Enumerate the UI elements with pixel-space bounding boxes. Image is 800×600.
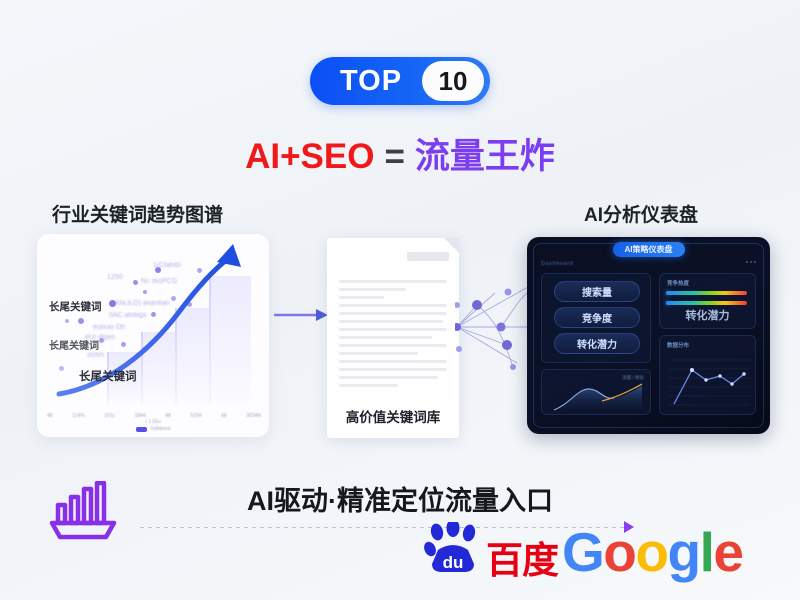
keyword-library-document: 高价值关键词库 xyxy=(327,238,459,438)
keyword-trend-chart-card: 1/Cfatxbl Nc sksPCG Kfa,b,O) anantian 0A… xyxy=(37,234,269,437)
doc-header-chip xyxy=(407,252,449,261)
doc-line xyxy=(339,288,406,291)
page-fold-corner xyxy=(444,238,459,253)
pill-competition[interactable]: 竞争度 xyxy=(554,307,640,328)
dashboard-menu-icon[interactable] xyxy=(746,261,756,263)
doc-line xyxy=(339,376,438,379)
baidu-du-text: du xyxy=(443,553,464,572)
google-letter-o2: o xyxy=(635,521,667,583)
doc-text-lines xyxy=(339,280,447,392)
doc-line xyxy=(339,312,447,315)
gauge-marker xyxy=(666,301,670,305)
keyword-label: 长尾关键词 xyxy=(49,337,99,352)
competition-heat-panel: 竞争热度 转化潜力 xyxy=(659,273,756,329)
doc-line xyxy=(339,352,418,355)
flow-arrow-icon xyxy=(274,308,328,322)
bar-chart-pedestal-icon xyxy=(44,481,122,545)
top-badge-number: 10 xyxy=(422,61,484,101)
axis-subtitle: r 1.5bu xyxy=(37,419,269,425)
dashboard-line-chart xyxy=(660,336,757,416)
pill-conversion-potential[interactable]: 转化潜力 xyxy=(554,333,640,354)
google-letter-e: e xyxy=(713,521,742,583)
data-distribution-panel: 数据分布 xyxy=(659,335,756,415)
traffic-area-panel: 流量 / 转化 xyxy=(541,369,651,415)
legend-swatch xyxy=(136,427,147,432)
google-letter-o1: o xyxy=(603,521,635,583)
doc-line xyxy=(339,344,447,347)
gauge-overlay-label: 转化潜力 xyxy=(660,307,755,323)
pill-search-volume[interactable]: 搜索量 xyxy=(554,281,640,302)
title-equals: = xyxy=(384,137,404,176)
dashboard-subtitle: Dashboard xyxy=(541,261,573,267)
dashboard-title-badge: AI策略仪表盘 xyxy=(613,242,685,257)
top-rank-badge: TOP 10 xyxy=(310,57,490,105)
doc-line xyxy=(339,368,447,371)
baidu-paw-icon: du xyxy=(424,522,482,574)
page-title: AI+SEO=流量王炸 xyxy=(0,128,800,179)
baidu-hanzi-text: 百度 xyxy=(486,530,558,584)
gradient-bar xyxy=(668,301,747,305)
caption-keyword-trend: 行业关键词趋势图谱 xyxy=(52,200,223,227)
title-traffic: 流量王炸 xyxy=(415,137,555,176)
dashboard-area-chart xyxy=(542,370,652,416)
doc-line xyxy=(339,328,447,331)
panel-title: 竞争热度 xyxy=(667,279,689,287)
trend-arrow-icon xyxy=(37,234,269,437)
divider-line xyxy=(140,527,630,528)
keyword-label: 长尾关键词 xyxy=(49,299,102,314)
doc-line xyxy=(339,304,447,307)
ai-dashboard-panel: AI策略仪表盘 Dashboard 搜索量 竞争度 转化潜力 竞争热度 转化潜力… xyxy=(527,237,770,434)
baidu-logo: du 百度 xyxy=(424,522,554,578)
doc-line xyxy=(339,360,447,363)
top-badge-label: TOP xyxy=(310,65,422,98)
doc-line xyxy=(339,320,443,323)
document-caption: 高价值关键词库 xyxy=(327,406,459,426)
google-letter-g2: g xyxy=(668,521,700,583)
title-ai-seo: AI+SEO xyxy=(245,137,374,176)
chart-plot-area: 1/Cfatxbl Nc sksPCG Kfa,b,O) anantian 0A… xyxy=(37,234,269,437)
doc-line xyxy=(339,296,384,299)
doc-line xyxy=(339,280,447,283)
google-letter-l: l xyxy=(700,521,714,583)
metric-pills-panel: 搜索量 竞争度 转化潜力 xyxy=(541,273,651,363)
caption-ai-dashboard: AI分析仪表盘 xyxy=(584,200,698,227)
gradient-bar xyxy=(668,291,747,295)
google-logo: Google xyxy=(562,520,742,584)
google-letter-g1: G xyxy=(562,521,603,583)
chart-legend: trafaluna xyxy=(37,426,269,432)
keyword-label: 长尾关键词 xyxy=(79,368,137,384)
doc-line xyxy=(339,384,398,387)
gauge-marker xyxy=(666,291,670,295)
legend-label: trafaluna xyxy=(151,426,170,432)
doc-line xyxy=(339,336,432,339)
